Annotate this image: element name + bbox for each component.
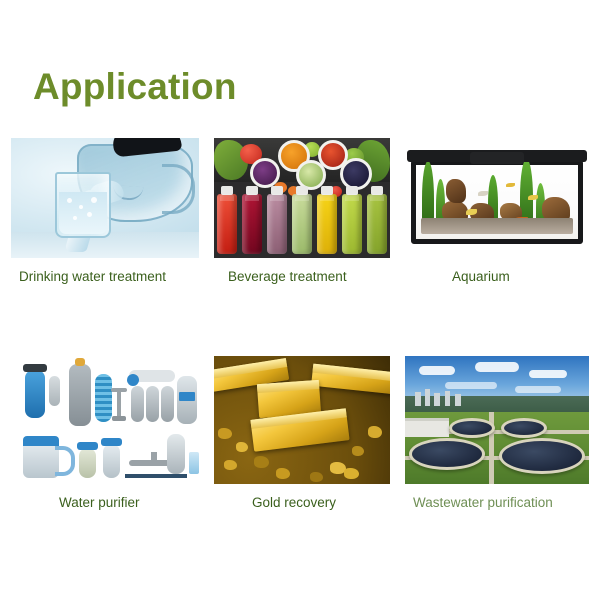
lawn: [405, 412, 589, 484]
thumbnail-drinking-water-treatment[interactable]: [11, 138, 199, 258]
card-caption-gold-recovery: Gold recovery: [214, 495, 390, 511]
card-wastewater-purification[interactable]: Wastewater purification: [405, 356, 589, 511]
clear-housing-1: [79, 448, 96, 478]
gold-bar-back-right: [311, 364, 390, 395]
card-drinking-water-treatment[interactable]: Drinking water treatment: [11, 138, 199, 285]
gravel-bed: [421, 218, 573, 234]
nugget: [344, 468, 359, 479]
thumbnail-water-purifier[interactable]: [11, 356, 199, 484]
gold-bar-face: [214, 358, 287, 379]
filter-cartridge-blue: [95, 374, 112, 422]
bubble: [91, 197, 97, 203]
bottle-5: [317, 194, 337, 254]
filter-cap: [23, 364, 47, 372]
thumbnail-wastewater-purification[interactable]: [405, 356, 589, 484]
bottle-7: [367, 194, 387, 254]
nugget: [352, 446, 364, 456]
plant-icon: [422, 161, 434, 223]
thumbnail-aquarium[interactable]: [405, 138, 589, 258]
card-caption-beverage-treatment: Beverage treatment: [214, 269, 390, 285]
clarifier-tank: [409, 438, 485, 470]
cloud: [475, 362, 519, 372]
nugget: [368, 426, 382, 438]
faucet-stem: [117, 392, 121, 418]
bottle-4: [292, 194, 312, 254]
city-building: [425, 389, 430, 406]
pitcher-handle: [162, 164, 195, 214]
bubble: [73, 216, 77, 220]
plant-building: [405, 418, 449, 437]
filter-housing-blue: [25, 370, 45, 418]
city-building: [455, 394, 461, 406]
bottle-2: [242, 194, 262, 254]
ro-gauge: [127, 374, 139, 386]
illustration-aquarium: [405, 138, 589, 258]
aquarium-tank: [411, 160, 583, 244]
tank-label: [179, 392, 195, 401]
card-caption-aquarium: Aquarium: [405, 269, 589, 285]
card-caption-drinking-water-treatment: Drinking water treatment: [11, 269, 199, 285]
illustration-water-pour: [11, 138, 199, 258]
application-row-2: Water purifier: [0, 356, 600, 574]
nugget: [236, 442, 248, 452]
pitcher-filter-handle: [55, 446, 75, 476]
cloud: [515, 386, 561, 393]
city-building: [415, 392, 421, 406]
ro-stage-2: [146, 386, 159, 422]
card-caption-water-purifier: Water purifier: [11, 495, 199, 511]
faucet-spout: [111, 388, 127, 392]
under-sink-filter: [167, 434, 185, 474]
clarifier-tank: [449, 418, 495, 438]
thumbnail-gold-recovery[interactable]: [214, 356, 390, 484]
pitcher-filter-lid: [23, 436, 59, 446]
bottle-row: [217, 188, 387, 254]
application-page: Application: [0, 0, 600, 600]
water-glass: [189, 452, 199, 474]
bubble: [87, 212, 92, 217]
cloud: [529, 370, 567, 378]
illustration-wastewater-plant: [405, 356, 589, 484]
fish-icon: [466, 209, 477, 215]
page-title: Application: [33, 68, 237, 105]
nugget: [218, 428, 232, 439]
faucet-base: [112, 416, 126, 421]
bottle-1: [217, 194, 237, 254]
filter-tank-grey: [69, 364, 91, 426]
ro-stage-3: [161, 386, 174, 422]
bottle-3: [267, 194, 287, 254]
city-building: [434, 393, 440, 406]
nugget: [310, 472, 323, 482]
card-gold-recovery[interactable]: Gold recovery: [214, 356, 390, 511]
application-row-1: Drinking water treatment: [0, 138, 600, 356]
clear-housing-2: [103, 444, 120, 478]
housing-cap-1: [77, 442, 98, 450]
nugget: [224, 460, 237, 470]
drinking-glass-icon: [55, 172, 111, 238]
glass-water: [59, 192, 107, 234]
card-caption-wastewater-purification: Wastewater purification: [405, 495, 589, 511]
card-aquarium[interactable]: Aquarium: [405, 138, 589, 285]
illustration-gold-bars: [214, 356, 390, 484]
housing-cap-2: [101, 438, 122, 446]
city-building: [445, 391, 450, 406]
application-grid: Drinking water treatment: [0, 138, 600, 574]
nugget: [276, 468, 290, 479]
card-beverage-treatment[interactable]: Beverage treatment: [214, 138, 390, 285]
ro-stage-1: [131, 386, 144, 422]
faucet-riser: [151, 452, 157, 462]
bubble: [67, 198, 72, 203]
fish-icon: [478, 191, 488, 196]
bottle-6: [342, 194, 362, 254]
fish-icon: [528, 195, 538, 200]
counter-line: [125, 474, 187, 478]
hood-light-box: [470, 152, 524, 164]
nugget: [254, 456, 269, 468]
driftwood-icon: [446, 179, 466, 203]
clarifier-tank: [499, 438, 585, 474]
cloud: [445, 382, 497, 389]
illustration-water-purifier-set: [11, 356, 199, 484]
gold-bar-face: [312, 364, 390, 382]
illustration-juice-bottles: [214, 138, 390, 258]
filter-cartridge: [49, 376, 60, 406]
card-water-purifier[interactable]: Water purifier: [11, 356, 199, 511]
thumbnail-beverage-treatment[interactable]: [214, 138, 390, 258]
tank-valve: [75, 358, 85, 366]
clarifier-tank: [501, 418, 547, 438]
bubble: [79, 205, 83, 209]
fish-icon: [506, 183, 515, 187]
aquarium-hood: [407, 150, 587, 162]
cloud: [419, 366, 455, 375]
